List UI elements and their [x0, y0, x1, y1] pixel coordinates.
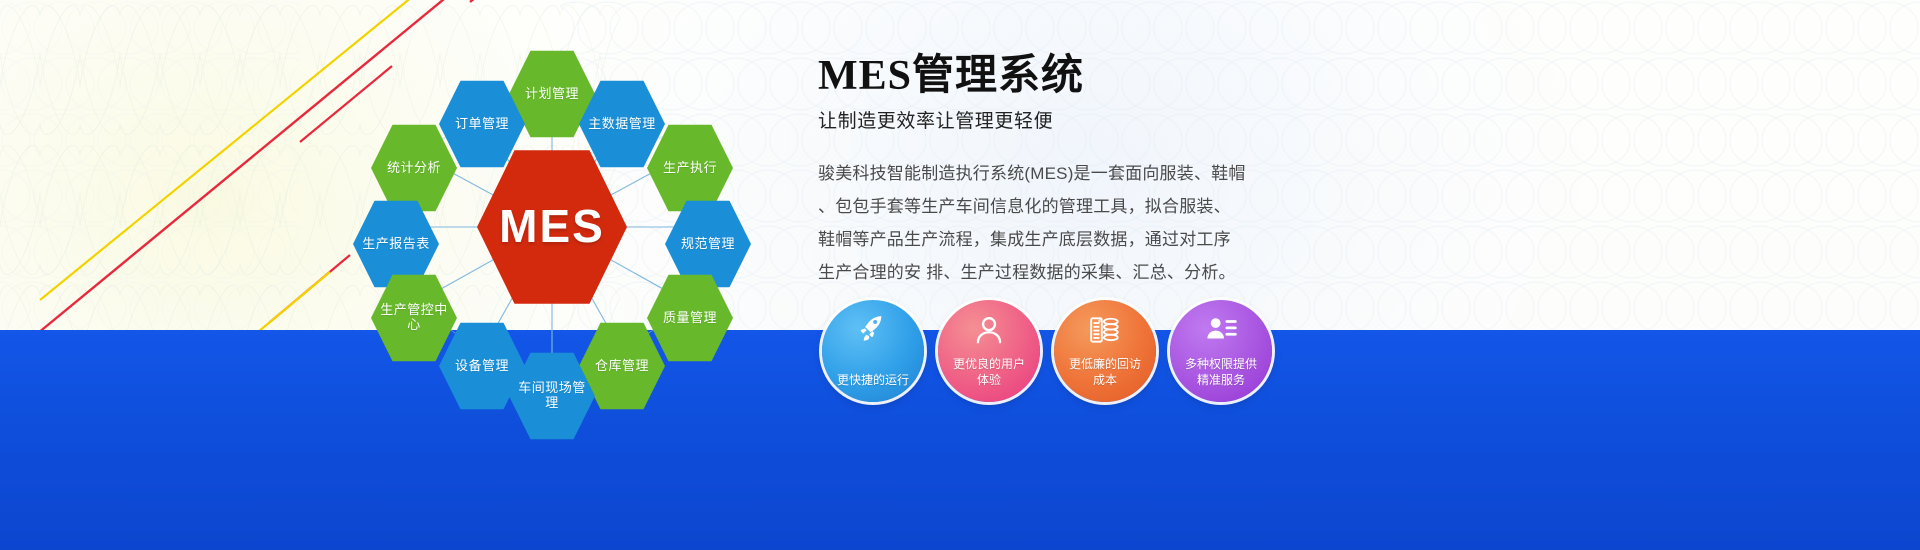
- feature-label: 更优良的用户 体验: [945, 356, 1033, 388]
- description-paragraph: 骏美科技智能制造执行系统(MES)是一套面向服装、鞋帽 、包包手套等生产车间信息…: [818, 157, 1338, 289]
- contact-card-icon: [1204, 313, 1238, 347]
- hex-label: 设备管理: [455, 359, 509, 374]
- hex-label: 生产管控中心: [375, 303, 453, 332]
- hex-label: 计划管理: [525, 87, 579, 102]
- feature-label-line2: 体验: [977, 373, 1001, 387]
- hex-label: 统计分析: [387, 161, 441, 176]
- paragraph-line: 、包包手套等生产车间信息化的管理工具，拟合服装、: [818, 190, 1338, 223]
- feature-label-line2: 成本: [1093, 373, 1117, 387]
- feature-label-line1: 更快捷的运行: [837, 373, 909, 387]
- hex-label: 生产执行: [663, 161, 717, 176]
- mes-hex-diagram: 计划管理 订单管理 主数据管理 统计分析 生产执行 生产报告表 规范管理 生产管…: [330, 22, 770, 442]
- feature-circle-multi-permission-service[interactable]: 多种权限提供 精准服务: [1170, 300, 1272, 402]
- banner-stage: 计划管理 订单管理 主数据管理 统计分析 生产执行 生产报告表 规范管理 生产管…: [0, 0, 1920, 550]
- feature-circle-lower-revisit-cost[interactable]: ¥ 更低廉的回访 成本: [1054, 300, 1156, 402]
- hex-center-label: MES: [499, 201, 605, 253]
- hex-label: 主数据管理: [588, 117, 656, 132]
- banner-text-panel: MES管理系统 让制造更效率让管理更轻便 骏美科技智能制造执行系统(MES)是一…: [818, 52, 1338, 289]
- feature-label: 更快捷的运行: [829, 372, 917, 388]
- hex-label: 质量管理: [663, 311, 717, 326]
- feature-label-line1: 更优良的用户: [953, 357, 1025, 371]
- hex-label: 生产报告表: [362, 237, 430, 252]
- feature-circle-list: 更快捷的运行 更优良的用户 体验: [822, 300, 1342, 410]
- feature-circle-better-user-experience[interactable]: 更优良的用户 体验: [938, 300, 1040, 402]
- feature-circle-faster-operation[interactable]: 更快捷的运行: [822, 300, 924, 402]
- hex-label: 车间现场管理: [513, 381, 591, 410]
- rocket-icon: [856, 313, 890, 347]
- paragraph-line: 骏美科技智能制造执行系统(MES)是一套面向服装、鞋帽: [818, 157, 1338, 190]
- feature-label-line2: 精准服务: [1197, 373, 1245, 387]
- paragraph-line: 生产合理的安 排、生产过程数据的采集、汇总、分析。: [818, 256, 1338, 289]
- feature-label: 更低廉的回访 成本: [1061, 356, 1149, 388]
- feature-label: 多种权限提供 精准服务: [1177, 356, 1265, 388]
- hex-label: 规范管理: [681, 237, 735, 252]
- feature-label-line1: 更低廉的回访: [1069, 357, 1141, 371]
- coins-icon: ¥: [1088, 313, 1122, 347]
- user-icon: [972, 313, 1006, 347]
- page-title: MES管理系统: [818, 52, 1338, 100]
- feature-label-line1: 多种权限提供: [1185, 357, 1257, 371]
- hex-label: 订单管理: [455, 117, 509, 132]
- page-subtitle: 让制造更效率让管理更轻便: [818, 106, 1338, 133]
- paragraph-line: 鞋帽等产品生产流程，集成生产底层数据，通过对工序: [818, 223, 1338, 256]
- hex-label: 仓库管理: [595, 359, 649, 374]
